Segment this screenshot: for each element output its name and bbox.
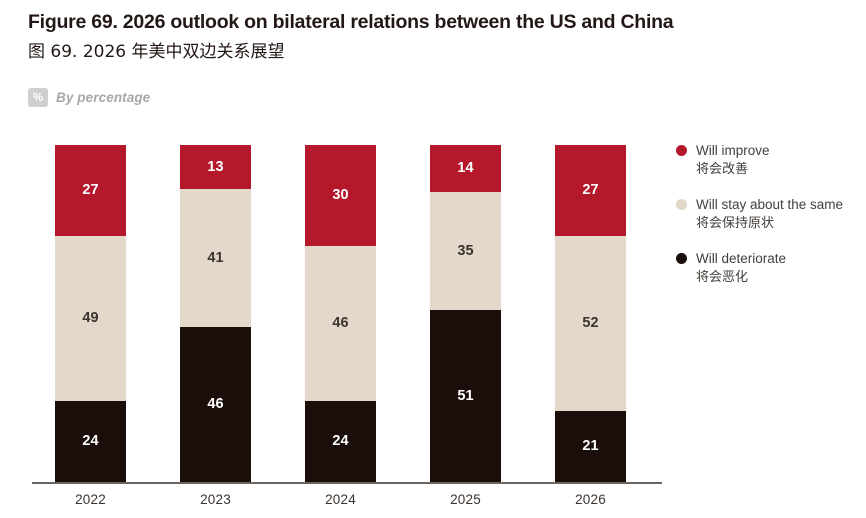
chart-legend: Will improve将会改善Will stay about the same…: [676, 141, 866, 303]
x-axis-label-2025: 2025: [430, 492, 501, 507]
legend-label-en: Will deteriorate: [696, 249, 786, 268]
bar-2022[interactable]: 274924: [55, 145, 126, 482]
bar-segment-2026-down[interactable]: 21: [555, 411, 626, 482]
legend-label-group: Will improve将会改善: [696, 141, 770, 179]
bar-segment-2024-up[interactable]: 30: [305, 145, 376, 246]
legend-label-zh: 将会恶化: [696, 268, 786, 287]
legend-label-group: Will stay about the same将会保持原状: [696, 195, 843, 233]
x-axis-label-2023: 2023: [180, 492, 251, 507]
x-axis-label-2024: 2024: [305, 492, 376, 507]
bar-segment-2022-up[interactable]: 27: [55, 145, 126, 236]
chart-page: Figure 69. 2026 outlook on bilateral rel…: [0, 0, 866, 518]
bar-segment-2025-same[interactable]: 35: [430, 192, 501, 310]
x-axis-label-2026: 2026: [555, 492, 626, 507]
legend-label-group: Will deteriorate将会恶化: [696, 249, 786, 287]
bar-segment-2026-same[interactable]: 52: [555, 236, 626, 411]
bar-segment-2025-up[interactable]: 14: [430, 145, 501, 192]
legend-item-2[interactable]: Will stay about the same将会保持原状: [676, 195, 866, 233]
legend-item-1[interactable]: Will improve将会改善: [676, 141, 866, 179]
bar-2026[interactable]: 275221: [555, 145, 626, 482]
bar-segment-2023-same[interactable]: 41: [180, 189, 251, 327]
x-axis-line: [32, 482, 662, 484]
bar-2023[interactable]: 134146: [180, 145, 251, 482]
x-axis-label-2022: 2022: [55, 492, 126, 507]
bar-2024[interactable]: 304624: [305, 145, 376, 482]
legend-swatch-icon: [676, 145, 687, 156]
legend-label-zh: 将会改善: [696, 160, 770, 179]
bar-segment-2024-down[interactable]: 24: [305, 401, 376, 482]
legend-swatch-icon: [676, 199, 687, 210]
legend-label-en: Will stay about the same: [696, 195, 843, 214]
bar-segment-2025-down[interactable]: 51: [430, 310, 501, 482]
bar-segment-2026-up[interactable]: 27: [555, 145, 626, 236]
bar-segment-2024-same[interactable]: 46: [305, 246, 376, 401]
bar-segment-2022-same[interactable]: 49: [55, 236, 126, 401]
chart-plot-area: 2749242022134146202330462420241435512025…: [0, 0, 680, 518]
legend-label-en: Will improve: [696, 141, 770, 160]
bar-segment-2022-down[interactable]: 24: [55, 401, 126, 482]
legend-item-3[interactable]: Will deteriorate将会恶化: [676, 249, 866, 287]
bar-segment-2023-up[interactable]: 13: [180, 145, 251, 189]
legend-swatch-icon: [676, 253, 687, 264]
bar-2025[interactable]: 143551: [430, 145, 501, 482]
legend-label-zh: 将会保持原状: [696, 214, 843, 233]
bar-segment-2023-down[interactable]: 46: [180, 327, 251, 482]
